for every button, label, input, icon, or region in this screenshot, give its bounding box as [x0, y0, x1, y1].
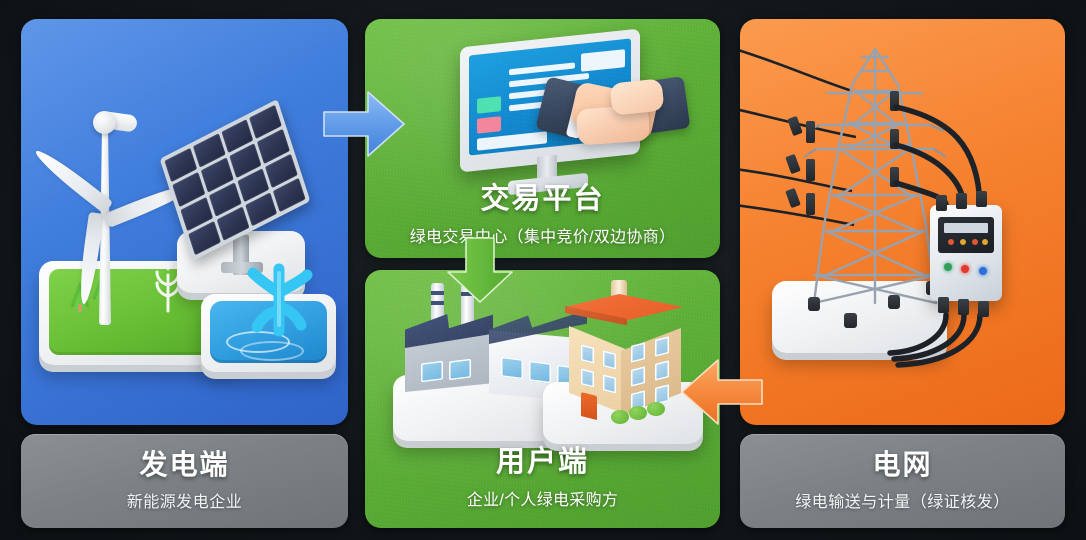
diagram-canvas: 发电端 新能源发电企业 交易平台 绿电交易中心（集中竞价/双边协商）: [0, 0, 1086, 540]
panel-consumer[interactable]: 用户端 企业/个人绿电采购方: [365, 270, 720, 528]
panel-label-platform: 交易平台 绿电交易中心（集中竞价/双边协商）: [365, 183, 720, 247]
hydro-water-icon: [235, 259, 321, 345]
panel-subtitle-consumer: 企业/个人绿电采购方: [365, 486, 720, 510]
arrow-generation-to-platform: [322, 86, 406, 162]
label-plate-generation: 发电端 新能源发电企业: [21, 434, 348, 528]
panel-subtitle-grid: 绿电输送与计量（绿证核发）: [795, 488, 1010, 512]
panel-title-platform: 交易平台: [365, 183, 720, 216]
panel-platform[interactable]: 交易平台 绿电交易中心（集中竞价/双边协商）: [365, 19, 720, 258]
panel-generation[interactable]: [21, 19, 348, 425]
arrow-grid-to-consumer: [678, 354, 764, 430]
arrow-platform-to-consumer: [442, 236, 518, 304]
panel-grid[interactable]: [740, 19, 1065, 425]
label-plate-grid: 电网 绿电输送与计量（绿证核发）: [740, 434, 1065, 528]
panel-subtitle-generation: 新能源发电企业: [127, 488, 243, 512]
panel-subtitle-platform: 绿电交易中心（集中竞价/双边协商）: [365, 223, 720, 247]
panel-label-consumer: 用户端 企业/个人绿电采购方: [365, 446, 720, 510]
panel-title-consumer: 用户端: [365, 446, 720, 479]
panel-title-grid: 电网: [872, 450, 932, 481]
panel-title-generation: 发电端: [139, 450, 229, 481]
